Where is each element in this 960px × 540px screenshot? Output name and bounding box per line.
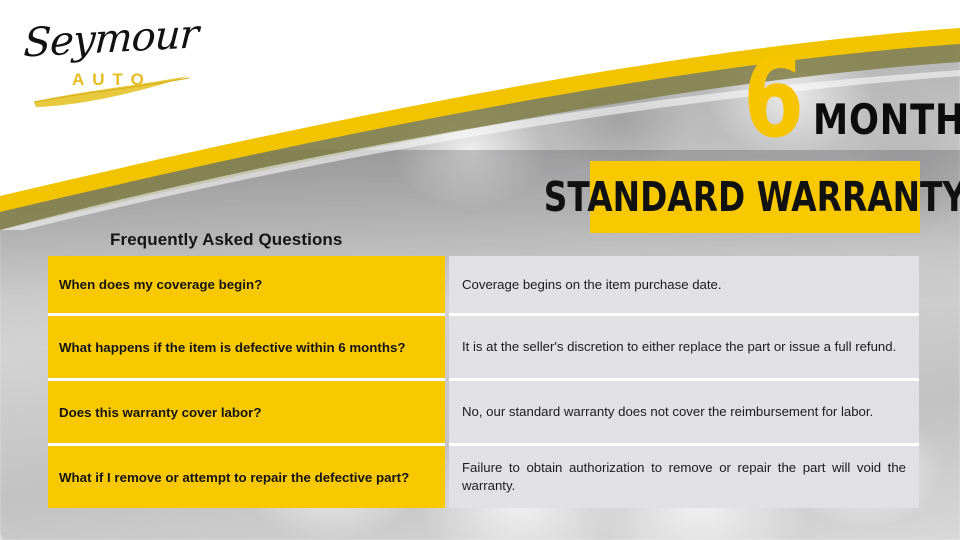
standard-warranty-label: STANDARD WARRANTY (544, 177, 960, 218)
faq-question: What if I remove or attempt to repair th… (48, 446, 445, 508)
faq-table: When does my coverage begin? Coverage be… (48, 256, 919, 508)
standard-warranty-banner: STANDARD WARRANTY (590, 161, 920, 233)
faq-question: When does my coverage begin? (48, 256, 445, 316)
faq-heading: Frequently Asked Questions (110, 230, 342, 250)
faq-answer: Failure to obtain authorization to remov… (449, 446, 919, 508)
faq-answer: Coverage begins on the item purchase dat… (449, 256, 919, 316)
faq-question: What happens if the item is defective wi… (48, 316, 445, 381)
table-row: What if I remove or attempt to repair th… (48, 446, 919, 508)
duration-unit: MONTH (813, 99, 960, 141)
table-row: When does my coverage begin? Coverage be… (48, 256, 919, 316)
logo-wordmark: Seymour (22, 11, 199, 66)
faq-question: Does this warranty cover labor? (48, 381, 445, 446)
logo-subtext: AUTO (72, 70, 152, 90)
faq-answer: It is at the seller's discretion to eith… (449, 316, 919, 381)
warranty-slide: Seymour AUTO 6 MONTH STANDARD WARRANTY F… (0, 0, 960, 540)
brand-logo: Seymour AUTO (14, 14, 199, 109)
table-row: Does this warranty cover labor? No, our … (48, 381, 919, 446)
table-row: What happens if the item is defective wi… (48, 316, 919, 381)
duration-number: 6 (743, 46, 803, 151)
faq-answer: No, our standard warranty does not cover… (449, 381, 919, 446)
